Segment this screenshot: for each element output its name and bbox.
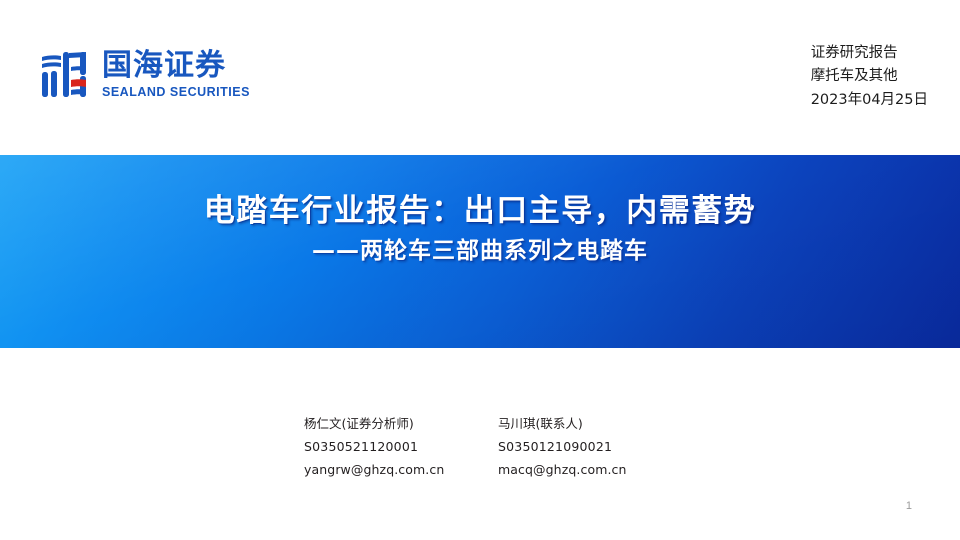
author-block: 杨仁文(证券分析师) S0350521120001 yangrw@ghzq.co… [0,412,960,481]
author-license-number: S0350521120001 [304,435,462,458]
author-email[interactable]: macq@ghzq.com.cn [498,458,656,481]
report-date-label: 2023年04月25日 [811,89,928,112]
title-banner-content: 电踏车行业报告：出口主导，内需蓄势 ——两轮车三部曲系列之电踏车 [0,155,960,348]
author-name: 杨仁文(证券分析师) [304,412,462,435]
report-subtitle: ——两轮车三部曲系列之电踏车 [312,237,648,267]
report-industry-label: 摩托车及其他 [811,65,928,88]
report-meta: 证券研究报告 摩托车及其他 2023年04月25日 [811,42,928,112]
author-entry: 杨仁文(证券分析师) S0350521120001 yangrw@ghzq.co… [304,412,462,481]
title-banner: 电踏车行业报告：出口主导，内需蓄势 ——两轮车三部曲系列之电踏车 [0,155,960,348]
page-number: 1 [906,500,912,512]
author-email[interactable]: yangrw@ghzq.com.cn [304,458,462,481]
brand-wordmark: 国海证券 SEALAND SECURITIES [102,50,250,98]
author-columns: 杨仁文(证券分析师) S0350521120001 yangrw@ghzq.co… [304,412,656,481]
brand-name-english: SEALAND SECURITIES [102,86,250,99]
report-cover-slide: 国海证券 SEALAND SECURITIES 证券研究报告 摩托车及其他 20… [0,0,960,540]
report-type-label: 证券研究报告 [811,42,928,65]
report-title: 电踏车行业报告：出口主导，内需蓄势 [204,192,757,231]
brand-logo: 国海证券 SEALAND SECURITIES [38,48,250,100]
brand-name-chinese: 国海证券 [102,50,250,82]
cover-header: 国海证券 SEALAND SECURITIES 证券研究报告 摩托车及其他 20… [0,0,960,155]
sealand-securities-logo-mark [38,48,90,100]
author-entry: 马川琪(联系人) S0350121090021 macq@ghzq.com.cn [498,412,656,481]
author-name: 马川琪(联系人) [498,412,656,435]
author-license-number: S0350121090021 [498,435,656,458]
